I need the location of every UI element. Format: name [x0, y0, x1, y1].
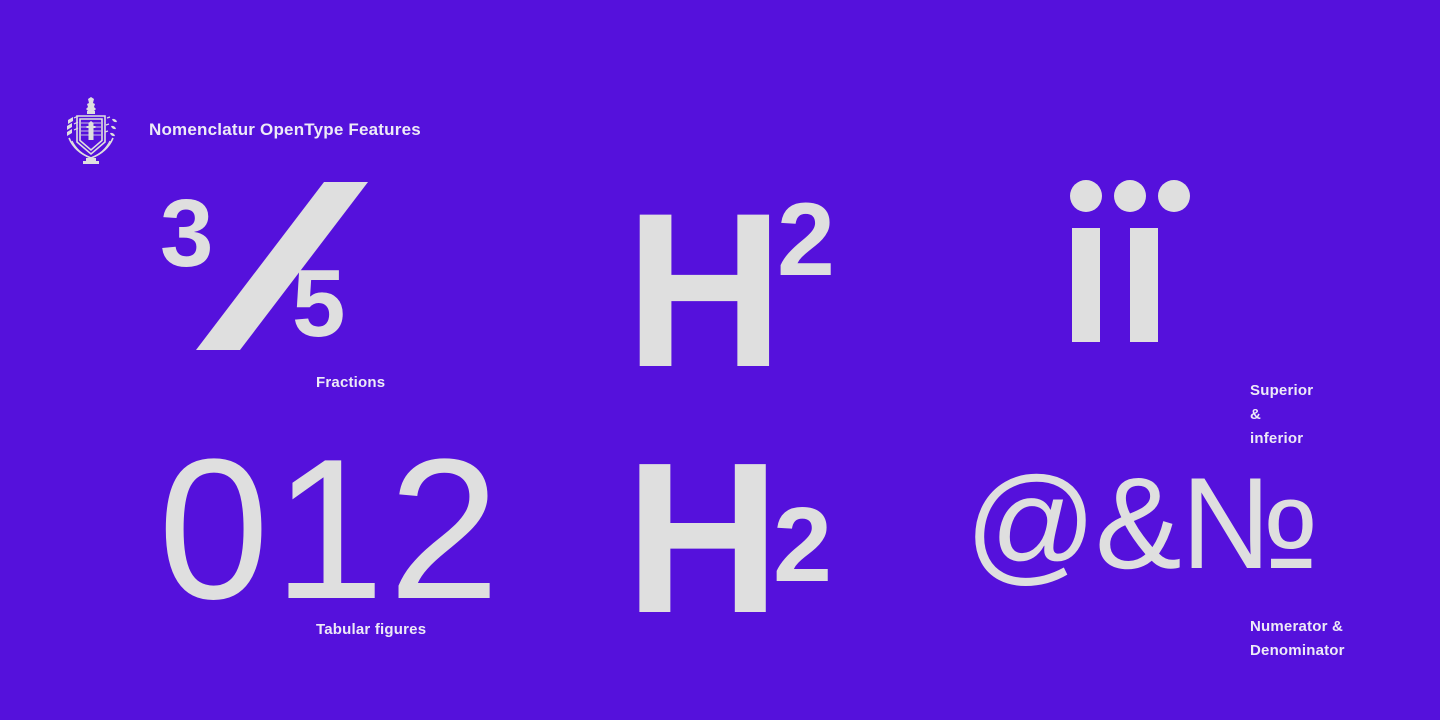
specimen-row-2: 012 Tabular figures H 2 Numerator & Deno… [0, 430, 1440, 650]
ligature-stem-1 [1072, 228, 1100, 342]
superior-figure: 2 [777, 188, 835, 292]
inferior-figure: 2 [773, 492, 832, 598]
ukrainian-ligature-glyph-group [1070, 180, 1190, 342]
symbols-glyph: @&№ [965, 458, 1317, 588]
caption-numerator-denominator: Numerator & Denominator [1250, 615, 1345, 663]
inferior-base-letter: H [625, 430, 778, 645]
ligature-dot-1 [1070, 180, 1102, 212]
page-title: Nomenclatur OpenType Features [149, 120, 421, 140]
inferior-glyph-group: H 2 [625, 430, 778, 600]
ligature-stem-2 [1130, 228, 1158, 342]
specimen-grid: 3 5 Fractions H 2 Superior & inferior [0, 180, 1440, 650]
superior-glyph-group: H 2 [625, 180, 782, 352]
crest-logo-icon [55, 94, 127, 166]
specimen-ukrainian-ligature: Pride in Ukrainian Ligature [1070, 180, 1190, 342]
caption-fractions: Fractions [316, 371, 385, 395]
specimen-superior-inferior: H 2 Superior & inferior [625, 180, 782, 352]
page-header: Nomenclatur OpenType Features [55, 94, 421, 166]
specimen-fractions: 3 5 Fractions [158, 180, 358, 352]
specimen-numerator-denominator: H 2 Numerator & Denominator [625, 430, 778, 600]
caption-tabular-figures: Tabular figures [316, 618, 426, 642]
specimen-row-1: 3 5 Fractions H 2 Superior & inferior [0, 180, 1440, 430]
ligature-dot-3 [1158, 180, 1190, 212]
specimen-tabular-figures: 012 Tabular figures [158, 430, 504, 630]
tabular-figures-glyph: 012 [158, 430, 504, 630]
superior-base-letter: H [625, 180, 782, 400]
ligature-dot-2 [1114, 180, 1146, 212]
fraction-glyph-group: 3 5 [158, 180, 358, 352]
fraction-denominator: 5 [292, 256, 345, 352]
